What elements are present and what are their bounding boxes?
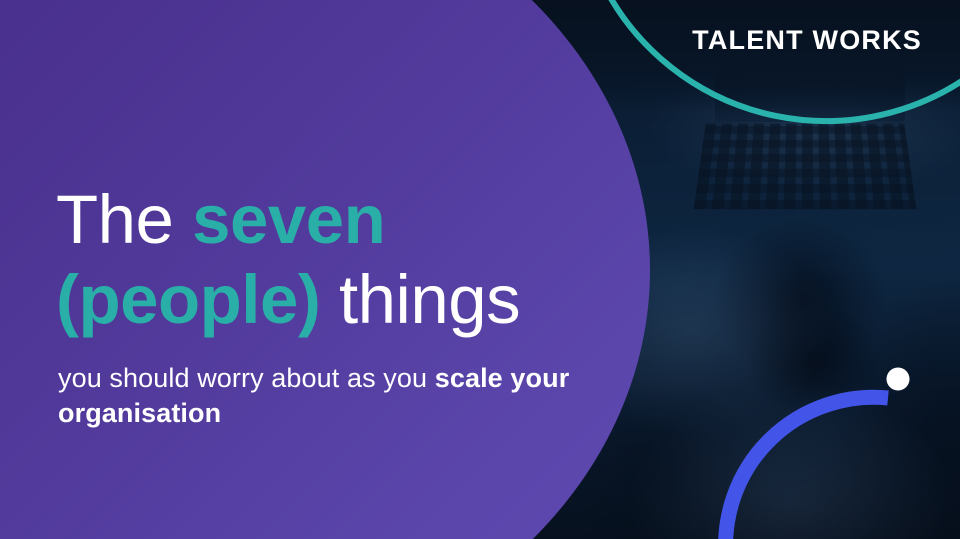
page-title: The seven (people) things	[56, 180, 596, 340]
presentation-slide: TALENT WORKS The seven (people) things y…	[0, 0, 960, 539]
headline-line-1: The seven	[56, 181, 385, 258]
headline-text-the: The	[56, 181, 192, 258]
subtitle-text-regular: you should worry about as you	[58, 363, 435, 393]
page-subtitle: you should worry about as you scale your…	[58, 361, 578, 431]
brand-wordmark: TALENT WORKS	[692, 25, 922, 56]
headline-line-2: (people) things	[56, 261, 520, 338]
headline-accent-seven: seven	[192, 181, 385, 258]
headline-accent-people: (people)	[56, 261, 320, 338]
headline-text-things: things	[320, 261, 520, 338]
